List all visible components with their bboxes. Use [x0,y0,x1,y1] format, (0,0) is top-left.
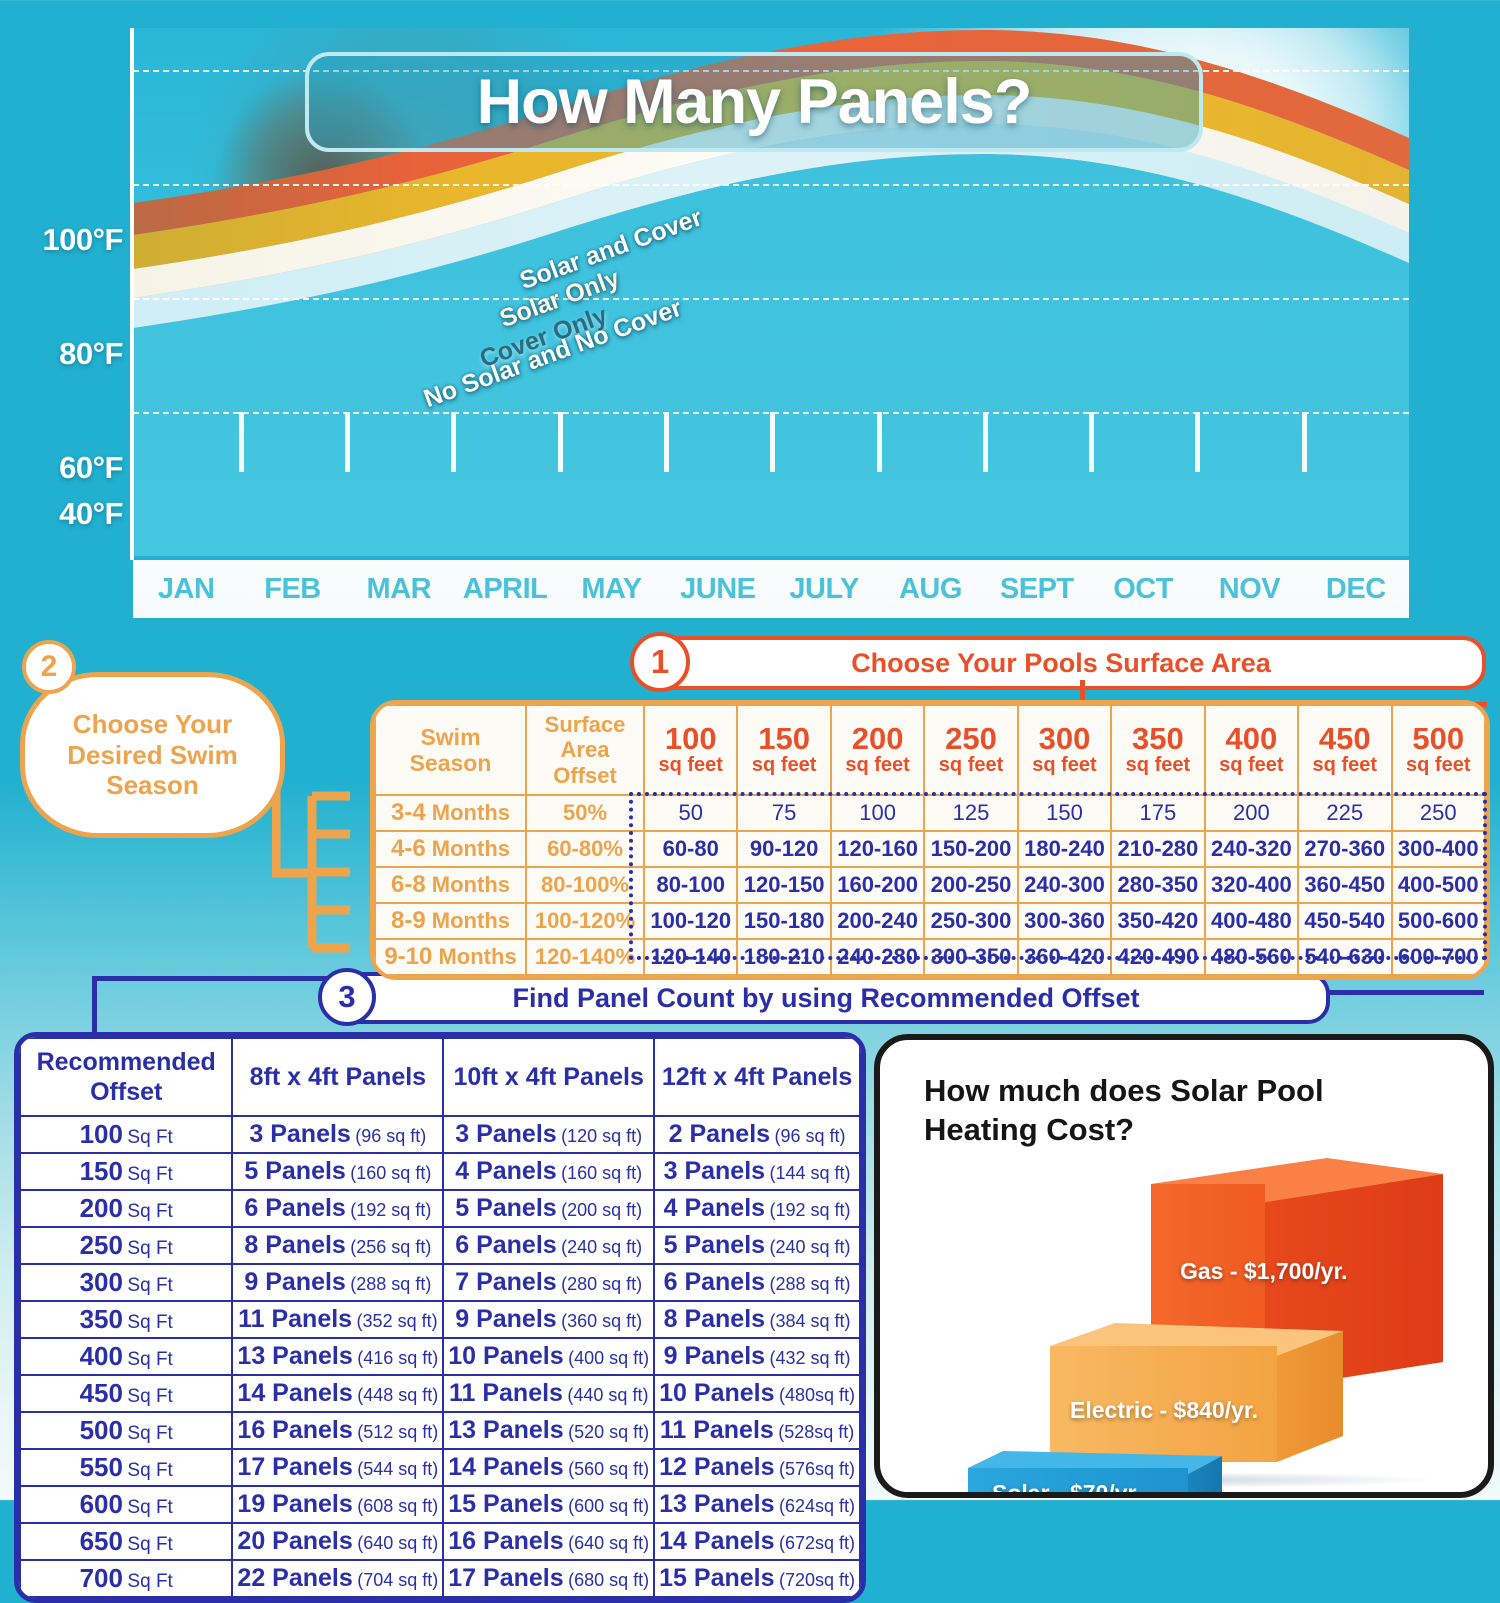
temperature-chart: Solar and Cover Solar Only Cover Only No… [0,0,1500,620]
header-area-100-value: 100 [646,723,735,754]
header-area-250[interactable]: 250sq feet [924,705,1017,795]
panel-row-10ft: 5 Panels (200 sq ft) [443,1190,654,1227]
panel-row-offset: 300 Sq Ft [20,1264,232,1301]
step-3-connector-right [1316,990,1484,995]
header-area-450-unit: sq feet [1300,754,1389,776]
bar-label-electric: Electric - $840/yr. [1070,1397,1258,1424]
page-title-text: How Many Panels? [477,66,1032,138]
surface-row-value: 120-150 [737,867,830,903]
panel-row-8ft: 16 Panels (512 sq ft) [232,1412,443,1449]
panel-row-12ft: 14 Panels (672sq ft) [654,1523,860,1560]
panel-row-10ft: 17 Panels (680 sq ft) [443,1560,654,1597]
surface-row-value: 75 [737,795,830,831]
panel-table-row[interactable]: 500 Sq Ft16 Panels (512 sq ft)13 Panels … [20,1412,860,1449]
panel-row-8ft: 11 Panels (352 sq ft) [232,1301,443,1338]
header-area-350[interactable]: 350sq feet [1111,705,1204,795]
tick-oct-nov [1195,412,1200,472]
surface-row-value: 50 [644,795,737,831]
surface-row-value: 200 [1205,795,1298,831]
surface-row-offset: 100-120% [526,903,644,939]
header-area-200[interactable]: 200sq feet [831,705,924,795]
surface-row-offset: 80-100% [526,867,644,903]
surface-row-value: 175 [1111,795,1204,831]
header-area-350-value: 350 [1113,723,1202,754]
surface-row-value: 210-280 [1111,831,1204,867]
y-tick-100f: 100°F [8,222,123,258]
header-area-150-value: 150 [739,723,828,754]
panel-row-12ft: 6 Panels (288 sq ft) [654,1264,860,1301]
surface-row-season: 4-6 Months [375,831,526,867]
tick-may-jun [664,412,669,472]
surface-row-value: 125 [924,795,1017,831]
month-oct: OCT [1090,573,1196,606]
panel-row-8ft: 17 Panels (544 sq ft) [232,1449,443,1486]
header-area-200-value: 200 [833,723,922,754]
panel-row-12ft: 2 Panels (96 sq ft) [654,1116,860,1153]
panel-row-10ft: 7 Panels (280 sq ft) [443,1264,654,1301]
header-area-400-value: 400 [1207,723,1296,754]
tick-apr-may [558,412,563,472]
panel-row-offset: 150 Sq Ft [20,1153,232,1190]
header-area-300-value: 300 [1020,723,1109,754]
surface-row-value: 300-400 [1392,831,1486,867]
surface-row-value: 100-120 [644,903,737,939]
surface-table-header-row: Swim Season Surface Area Offset 100sq fe… [375,705,1485,795]
header-area-150-unit: sq feet [739,754,828,776]
panel-table-row[interactable]: 650 Sq Ft20 Panels (640 sq ft)16 Panels … [20,1523,860,1560]
surface-row-season: 6-8 Months [375,867,526,903]
surface-row-value: 600-700 [1392,939,1486,975]
surface-row-value: 250 [1392,795,1486,831]
month-sept: SEPT [984,573,1090,606]
panel-row-12ft: 3 Panels (144 sq ft) [654,1153,860,1190]
surface-row-value: 360-420 [1018,939,1111,975]
surface-table-row[interactable]: 3-4 Months50%5075100125150175200225250 [375,795,1485,831]
surface-row-value: 120-160 [831,831,924,867]
panel-row-8ft: 9 Panels (288 sq ft) [232,1264,443,1301]
panel-row-offset: 200 Sq Ft [20,1190,232,1227]
panel-table-row[interactable]: 250 Sq Ft8 Panels (256 sq ft)6 Panels (2… [20,1227,860,1264]
panel-row-10ft: 3 Panels (120 sq ft) [443,1116,654,1153]
panel-row-12ft: 5 Panels (240 sq ft) [654,1227,860,1264]
tick-jan-feb [239,412,244,472]
bar-label-gas: Gas - $1,700/yr. [1180,1258,1348,1285]
month-april: APRIL [452,573,558,606]
tick-jul-aug [877,412,882,472]
month-aug: AUG [877,573,983,606]
surface-row-value: 150 [1018,795,1111,831]
surface-row-value: 90-120 [737,831,830,867]
header-area-400[interactable]: 400sq feet [1205,705,1298,795]
surface-row-value: 270-360 [1298,831,1391,867]
panel-row-8ft: 6 Panels (192 sq ft) [232,1190,443,1227]
panel-table-row[interactable]: 350 Sq Ft11 Panels (352 sq ft)9 Panels (… [20,1301,860,1338]
panel-row-12ft: 9 Panels (432 sq ft) [654,1338,860,1375]
surface-row-value: 150-180 [737,903,830,939]
surface-row-value: 400-500 [1392,867,1486,903]
tick-jun-jul [770,412,775,472]
surface-row-value: 100 [831,795,924,831]
panel-row-8ft: 19 Panels (608 sq ft) [232,1486,443,1523]
surface-row-value: 500-600 [1392,903,1486,939]
surface-row-value: 300-360 [1018,903,1111,939]
panel-row-12ft: 4 Panels (192 sq ft) [654,1190,860,1227]
surface-table-row[interactable]: 4-6 Months60-80%60-8090-120120-160150-20… [375,831,1485,867]
header-area-250-value: 250 [926,723,1015,754]
header-area-250-unit: sq feet [926,754,1015,776]
panel-count-table: Recommended Offset 8ft x 4ft Panels 10ft… [14,1032,866,1603]
surface-area-table: Swim Season Surface Area Offset 100sq fe… [370,700,1490,980]
panel-row-8ft: 3 Panels (96 sq ft) [232,1116,443,1153]
surface-row-value: 400-480 [1205,903,1298,939]
panel-row-offset: 650 Sq Ft [20,1523,232,1560]
surface-row-value: 240-320 [1205,831,1298,867]
surface-row-value: 160-200 [831,867,924,903]
panel-row-8ft: 5 Panels (160 sq ft) [232,1153,443,1190]
step-1-badge: 1 [630,632,690,692]
tick-sep-oct [1089,412,1094,472]
month-nov: NOV [1196,573,1302,606]
header-area-450[interactable]: 450sq feet [1298,705,1391,795]
chart-x-axis-months: JAN FEB MAR APRIL MAY JUNE JULY AUG SEPT… [133,560,1409,618]
step-1-connector-stem [1080,680,1085,702]
panel-table-row[interactable]: 550 Sq Ft17 Panels (544 sq ft)14 Panels … [20,1449,860,1486]
surface-row-offset: 50% [526,795,644,831]
surface-table-row[interactable]: 8-9 Months100-120%100-120150-180200-2402… [375,903,1485,939]
panel-table-row[interactable]: 200 Sq Ft6 Panels (192 sq ft)5 Panels (2… [20,1190,860,1227]
surface-row-value: 60-80 [644,831,737,867]
panel-row-offset: 550 Sq Ft [20,1449,232,1486]
panel-row-offset: 500 Sq Ft [20,1412,232,1449]
panel-row-12ft: 13 Panels (624sq ft) [654,1486,860,1523]
chart-y-axis-line [130,28,134,560]
panel-row-10ft: 11 Panels (440 sq ft) [443,1375,654,1412]
surface-row-value: 250-300 [924,903,1017,939]
bar-label-solar: Solar - $70/yr. [992,1480,1142,1498]
y-tick-60f: 60°F [8,450,123,486]
surface-row-offset: 120-140% [526,939,644,975]
panel-row-10ft: 10 Panels (400 sq ft) [443,1338,654,1375]
y-tick-40f: 40°F [8,496,123,532]
step-2-badge: 2 [22,640,76,694]
header-8ft-panels: 8ft x 4ft Panels [232,1038,443,1116]
surface-row-value: 240-280 [831,939,924,975]
panel-row-10ft: 16 Panels (640 sq ft) [443,1523,654,1560]
panel-row-10ft: 14 Panels (560 sq ft) [443,1449,654,1486]
surface-table-row[interactable]: 6-8 Months80-100%80-100120-150160-200200… [375,867,1485,903]
panel-row-10ft: 9 Panels (360 sq ft) [443,1301,654,1338]
surface-row-value: 320-400 [1205,867,1298,903]
panel-row-offset: 450 Sq Ft [20,1375,232,1412]
panel-row-offset: 100 Sq Ft [20,1116,232,1153]
step-3-connector-left [92,976,97,1036]
header-area-500-value: 500 [1394,723,1484,754]
gridline-80f [133,184,1409,186]
panel-row-10ft: 4 Panels (160 sq ft) [443,1153,654,1190]
tick-mar-apr [451,412,456,472]
surface-row-offset: 60-80% [526,831,644,867]
month-dec: DEC [1303,573,1409,606]
surface-row-value: 200-240 [831,903,924,939]
surface-row-value: 80-100 [644,867,737,903]
header-12ft-panels: 12ft x 4ft Panels [654,1038,860,1116]
surface-row-value: 480-560 [1205,939,1298,975]
panel-row-10ft: 6 Panels (240 sq ft) [443,1227,654,1264]
panel-table-row[interactable]: 150 Sq Ft5 Panels (160 sq ft)4 Panels (1… [20,1153,860,1190]
header-area-450-value: 450 [1300,723,1389,754]
surface-row-value: 200-250 [924,867,1017,903]
surface-row-value: 180-210 [737,939,830,975]
step-2-heading: Choose Your Desired Swim Season [25,709,280,801]
header-recommended-offset: Recommended Offset [20,1038,232,1116]
surface-row-value: 350-420 [1111,903,1204,939]
surface-row-value: 180-240 [1018,831,1111,867]
step-1-heading: Choose Your Pools Surface Area [851,648,1271,679]
panel-row-12ft: 11 Panels (528sq ft) [654,1412,860,1449]
surface-row-value: 360-450 [1298,867,1391,903]
gridline-60f [133,298,1409,300]
panel-row-offset: 400 Sq Ft [20,1338,232,1375]
surface-row-value: 300-350 [924,939,1017,975]
month-feb: FEB [239,573,345,606]
panel-table-header-row: Recommended Offset 8ft x 4ft Panels 10ft… [20,1038,860,1116]
panel-table-row[interactable]: 100 Sq Ft3 Panels (96 sq ft)3 Panels (12… [20,1116,860,1153]
panel-row-10ft: 13 Panels (520 sq ft) [443,1412,654,1449]
surface-row-value: 420-490 [1111,939,1204,975]
panel-row-12ft: 8 Panels (384 sq ft) [654,1301,860,1338]
step-2-callout: Choose Your Desired Swim Season [20,672,285,838]
panel-row-offset: 600 Sq Ft [20,1486,232,1523]
surface-row-value: 150-200 [924,831,1017,867]
header-area-150[interactable]: 150sq feet [737,705,830,795]
header-area-500[interactable]: 500sq feet [1392,705,1486,795]
panel-table-row[interactable]: 450 Sq Ft14 Panels (448 sq ft)11 Panels … [20,1375,860,1412]
panel-row-8ft: 22 Panels (704 sq ft) [232,1560,443,1597]
month-jan: JAN [133,573,239,606]
panel-row-offset: 350 Sq Ft [20,1301,232,1338]
header-area-100[interactable]: 100sq feet [644,705,737,795]
panel-table-row[interactable]: 300 Sq Ft9 Panels (288 sq ft)7 Panels (2… [20,1264,860,1301]
month-june: JUNE [665,573,771,606]
panel-row-8ft: 8 Panels (256 sq ft) [232,1227,443,1264]
header-swim-season: Swim Season [375,705,526,795]
header-area-400-unit: sq feet [1207,754,1296,776]
header-10ft-panels: 10ft x 4ft Panels [443,1038,654,1116]
surface-row-value: 120-140 [644,939,737,975]
solar-cost-panel: How much does Solar Pool Heating Cost? [874,1034,1494,1498]
tick-feb-mar [345,412,350,472]
surface-row-value: 450-540 [1298,903,1391,939]
tick-aug-sep [983,412,988,472]
surface-row-value: 280-350 [1111,867,1204,903]
header-surface-area-offset: Surface Area Offset [526,705,644,795]
panel-row-12ft: 10 Panels (480sq ft) [654,1375,860,1412]
step-3-badge: 3 [318,968,376,1026]
header-area-100-unit: sq feet [646,754,735,776]
step-3-heading: Find Panel Count by using Recommended Of… [512,983,1139,1014]
month-mar: MAR [346,573,452,606]
surface-row-value: 540-630 [1298,939,1391,975]
month-july: JULY [771,573,877,606]
surface-row-season: 9-10 Months [375,939,526,975]
header-area-500-unit: sq feet [1394,754,1484,776]
header-area-300-unit: sq feet [1020,754,1109,776]
header-area-350-unit: sq feet [1113,754,1202,776]
step-3-connector-top [92,976,332,981]
panel-row-8ft: 13 Panels (416 sq ft) [232,1338,443,1375]
y-tick-80f: 80°F [8,336,123,372]
surface-row-season: 8-9 Months [375,903,526,939]
tick-nov-dec [1302,412,1307,472]
surface-row-season: 3-4 Months [375,795,526,831]
bar-electric [1050,1323,1343,1462]
panel-row-8ft: 14 Panels (448 sq ft) [232,1375,443,1412]
panel-table-row[interactable]: 700 Sq Ft22 Panels (704 sq ft)17 Panels … [20,1560,860,1597]
surface-row-value: 240-300 [1018,867,1111,903]
month-may: MAY [558,573,664,606]
page-title: How Many Panels? [305,52,1203,152]
panel-row-12ft: 12 Panels (576sq ft) [654,1449,860,1486]
panel-row-8ft: 20 Panels (640 sq ft) [232,1523,443,1560]
panel-table-row[interactable]: 400 Sq Ft13 Panels (416 sq ft)10 Panels … [20,1338,860,1375]
surface-table-row[interactable]: 9-10 Months120-140%120-140180-210240-280… [375,939,1485,975]
panel-row-10ft: 15 Panels (600 sq ft) [443,1486,654,1523]
panel-row-12ft: 15 Panels (720sq ft) [654,1560,860,1597]
step-1-banner: Choose Your Pools Surface Area [636,636,1486,690]
panel-row-offset: 700 Sq Ft [20,1560,232,1597]
header-area-300[interactable]: 300sq feet [1018,705,1111,795]
panel-row-offset: 250 Sq Ft [20,1227,232,1264]
header-area-200-unit: sq feet [833,754,922,776]
panel-table-row[interactable]: 600 Sq Ft19 Panels (608 sq ft)15 Panels … [20,1486,860,1523]
surface-row-value: 225 [1298,795,1391,831]
